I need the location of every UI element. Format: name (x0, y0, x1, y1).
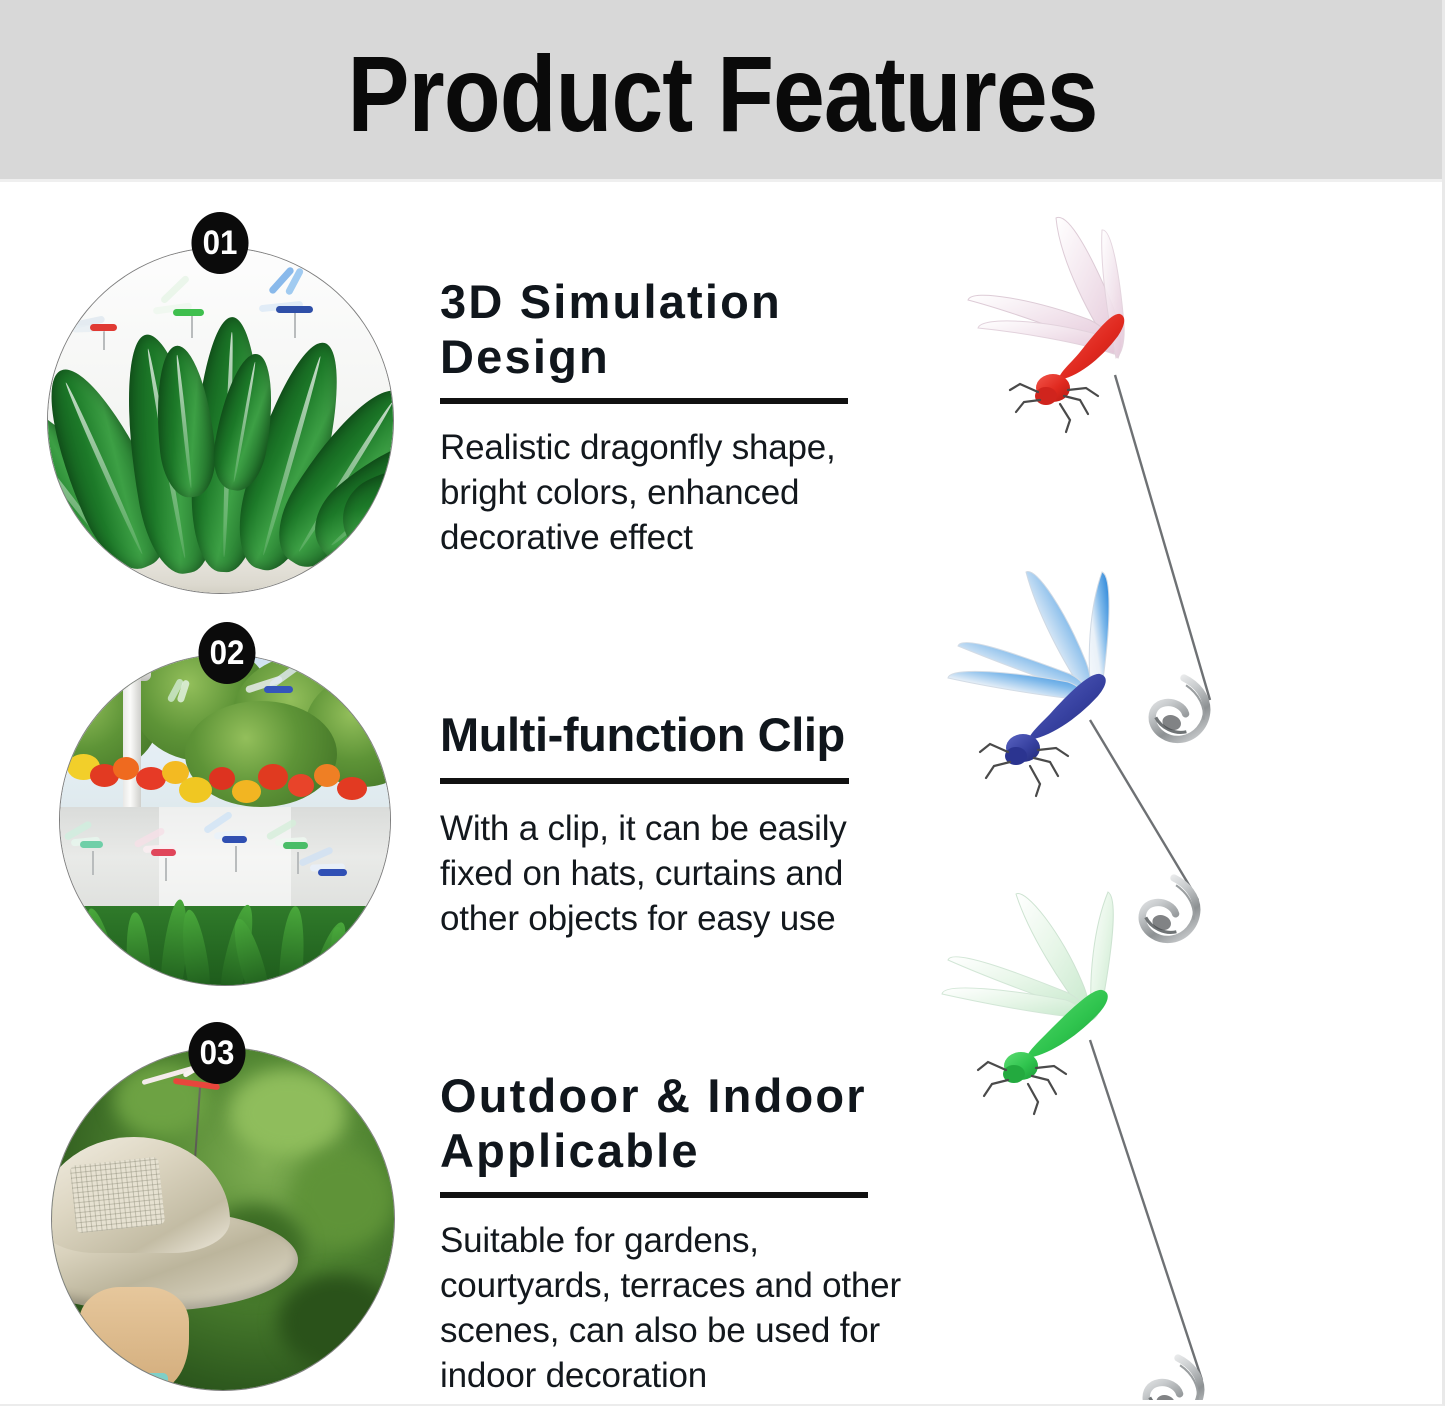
red-dragonfly (968, 217, 1124, 432)
feature-body-3: Suitable for gardens, courtyards, terrac… (440, 1218, 930, 1398)
feature-photo-3-image (52, 1048, 394, 1390)
wire-blue-to-clip2 (1090, 720, 1198, 900)
feature-badge-1: 01 (191, 212, 248, 274)
feature-photo-3 (52, 1048, 394, 1390)
wires (1090, 375, 1210, 1380)
blue-dragonfly (948, 571, 1109, 796)
feature-badge-2: 02 (198, 622, 255, 684)
wire-red-to-clip1 (1115, 375, 1210, 700)
product-art-svg (940, 200, 1380, 1400)
product-features-page: Product Features (0, 0, 1445, 1406)
wire-green-to-clip3 (1090, 1040, 1202, 1380)
product-art-column (940, 200, 1380, 1400)
feature-heading-3: Outdoor & Indoor Applicable (440, 1068, 910, 1178)
feature-divider-3 (440, 1192, 868, 1198)
feature-badge-3: 03 (188, 1022, 245, 1084)
feature-text-3: Outdoor & Indoor Applicable Suitable for… (440, 1068, 910, 1398)
green-dragonfly (942, 892, 1113, 1114)
metal-spring-clip-2 (1137, 872, 1205, 947)
metal-spring-clip-3 (1141, 1352, 1209, 1400)
